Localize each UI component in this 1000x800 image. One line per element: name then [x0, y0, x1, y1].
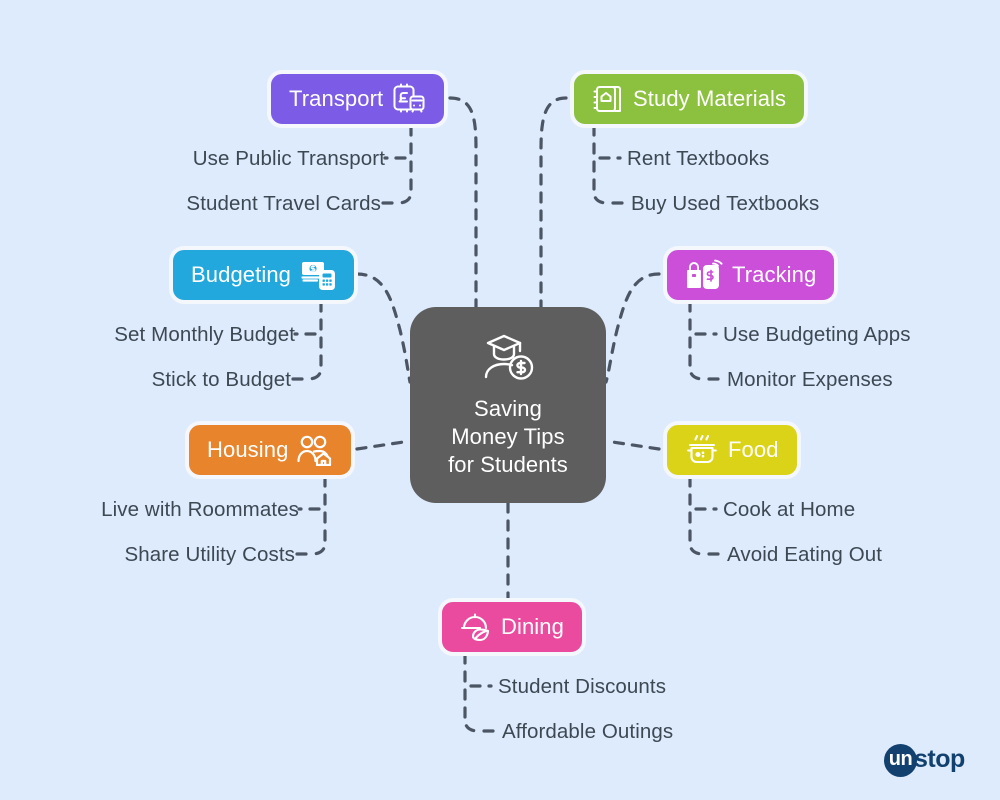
sub-item-transport-2: Student Travel Cards [186, 192, 381, 216]
branch-node-study-materials[interactable]: Study Materials [570, 70, 808, 128]
connector-housing [357, 441, 410, 449]
branch-label-tracking: Tracking [732, 262, 816, 288]
sub-item-housing-1: Live with Roommates [101, 498, 299, 522]
subconnector-study-spine [594, 126, 607, 203]
mindmap-canvas: Saving Money Tips for Students Transport… [0, 0, 1000, 800]
sub-item-housing-2: Share Utility Costs [124, 543, 295, 567]
branch-label-food: Food [728, 437, 779, 463]
connector-food [606, 441, 659, 449]
branch-label-budgeting: Budgeting [191, 262, 291, 288]
sub-item-dining-2: Affordable Outings [502, 720, 673, 744]
subconnector-food-spine [690, 477, 703, 554]
graduate-with-dollar-icon [480, 332, 536, 387]
sub-item-tracking-1: Use Budgeting Apps [723, 323, 911, 347]
branch-node-budgeting[interactable]: Budgeting [169, 246, 358, 304]
branch-node-dining[interactable]: Dining [438, 598, 586, 656]
subconnector-dining-spine [465, 654, 478, 731]
sub-item-food-1: Cook at Home [723, 498, 855, 522]
center-title-line-2: Money Tips [448, 423, 568, 451]
sub-item-study-materials-1: Rent Textbooks [627, 147, 769, 171]
unstop-logo-text: stop [914, 745, 965, 776]
branch-node-tracking[interactable]: Tracking [663, 246, 838, 304]
connector-study-materials [541, 98, 566, 307]
ticket-pound-bus-icon [392, 83, 426, 115]
subconnector-housing-spine [312, 477, 325, 554]
branch-node-food[interactable]: Food [663, 421, 801, 479]
people-home-icon [297, 434, 333, 466]
connector-tracking [606, 274, 659, 382]
center-node-title: Saving Money Tips for Students [448, 395, 568, 479]
center-node[interactable]: Saving Money Tips for Students [410, 307, 606, 503]
connector-transport [450, 98, 476, 307]
sub-item-food-2: Avoid Eating Out [727, 543, 882, 567]
unstop-logo-mark: un [884, 744, 917, 777]
branch-label-dining: Dining [501, 614, 564, 640]
money-calculator-icon [300, 259, 336, 291]
branch-label-study-materials: Study Materials [633, 86, 786, 112]
mobile-payment-icon [685, 259, 723, 291]
branch-node-transport[interactable]: Transport [267, 70, 448, 128]
cooking-pot-icon [685, 434, 719, 466]
subconnector-transport-spine [398, 126, 411, 203]
branch-label-housing: Housing [207, 437, 288, 463]
notebook-home-icon [592, 83, 624, 115]
branch-label-transport: Transport [289, 86, 383, 112]
sub-item-transport-1: Use Public Transport [193, 147, 385, 171]
center-title-line-3: for Students [448, 451, 568, 479]
sub-item-budgeting-2: Stick to Budget [152, 368, 291, 392]
branch-node-housing[interactable]: Housing [185, 421, 355, 479]
center-title-line-1: Saving [448, 395, 568, 423]
sub-item-study-materials-2: Buy Used Textbooks [631, 192, 819, 216]
sub-item-budgeting-1: Set Monthly Budget [114, 323, 295, 347]
food-cloche-leaf-icon [460, 611, 492, 643]
connector-budgeting [357, 274, 410, 382]
sub-item-tracking-2: Monitor Expenses [727, 368, 893, 392]
unstop-logo[interactable]: un stop [884, 744, 965, 777]
subconnector-tracking-spine [690, 302, 703, 379]
sub-item-dining-1: Student Discounts [498, 675, 666, 699]
subconnector-budgeting-spine [308, 302, 321, 379]
